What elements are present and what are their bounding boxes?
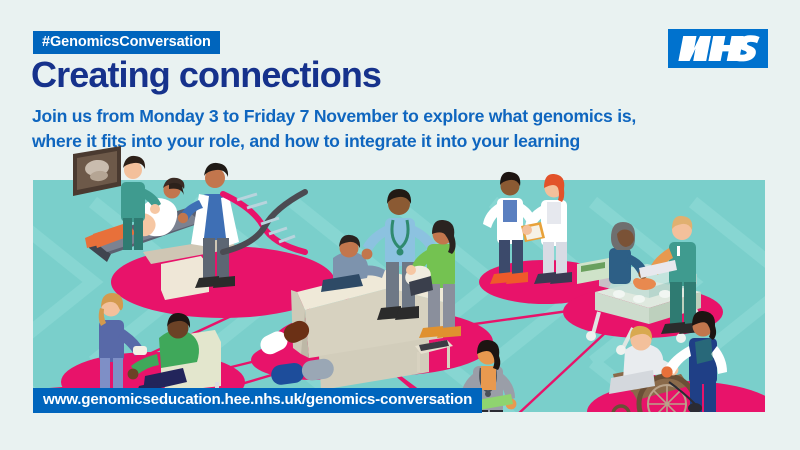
illustration-svg [33,142,765,412]
nhs-logo [668,29,768,68]
subtitle-line-1: Join us from Monday 3 to Friday 7 Novemb… [32,104,762,129]
page-title: Creating connections [31,56,381,94]
nhs-logo-wordmark [675,35,761,62]
website-url-banner[interactable]: www.genomicseducation.hee.nhs.uk/genomic… [33,388,482,413]
healthcare-network-illustration: www.genomicseducation.hee.nhs.uk/genomic… [33,180,765,412]
poster-canvas: #GenomicsConversation Creating connectio… [0,0,800,450]
illustration-canvas [33,142,765,412]
hashtag-badge: #GenomicsConversation [33,31,220,54]
